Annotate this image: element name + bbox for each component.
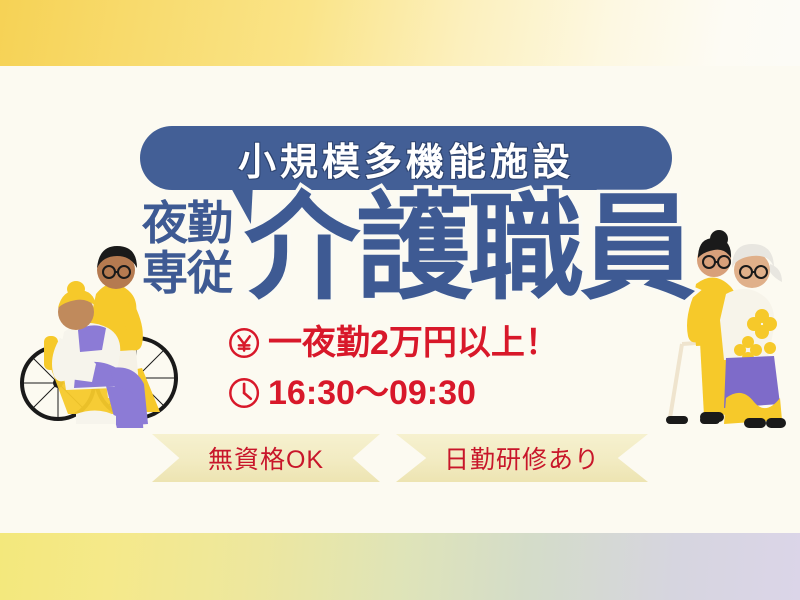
yen-circle-icon: [224, 324, 268, 362]
background-bottom-gradient-band: [0, 533, 800, 600]
ribbon-no-qualification: 無資格OK: [152, 434, 380, 482]
highlight-item-hours-label: 16:30〜09:30: [268, 374, 476, 412]
highlight-item-pay: 一夜勤2万円以上！: [224, 318, 644, 368]
ad-banner: 小規模多機能施設 夜勤 専従 介護職員 一夜勤2万円以上！: [0, 0, 800, 600]
clock-icon: [224, 374, 268, 412]
category-badge: 小規模多機能施設: [140, 126, 672, 190]
feature-ribbons: 無資格OK 日勤研修あり: [152, 434, 648, 482]
headline-qualifier-line-1: 夜勤: [142, 198, 248, 248]
headline-qualifier: 夜勤 専従: [142, 198, 248, 298]
badge-label: 小規模多機能施設: [140, 126, 672, 190]
ribbon-day-shift-training: 日勤研修あり: [396, 434, 648, 482]
highlight-item-hours: 16:30〜09:30: [224, 368, 644, 418]
page-title: 夜勤 専従 介護職員: [140, 196, 670, 306]
background-top-gradient-band: [0, 0, 800, 66]
highlight-list: 一夜勤2万円以上！ 16:30〜09:30: [224, 318, 644, 418]
headline-main: 介護職員: [244, 190, 692, 306]
highlight-item-pay-label: 一夜勤2万円以上！: [268, 324, 559, 362]
headline-qualifier-line-2: 専従: [142, 248, 248, 298]
